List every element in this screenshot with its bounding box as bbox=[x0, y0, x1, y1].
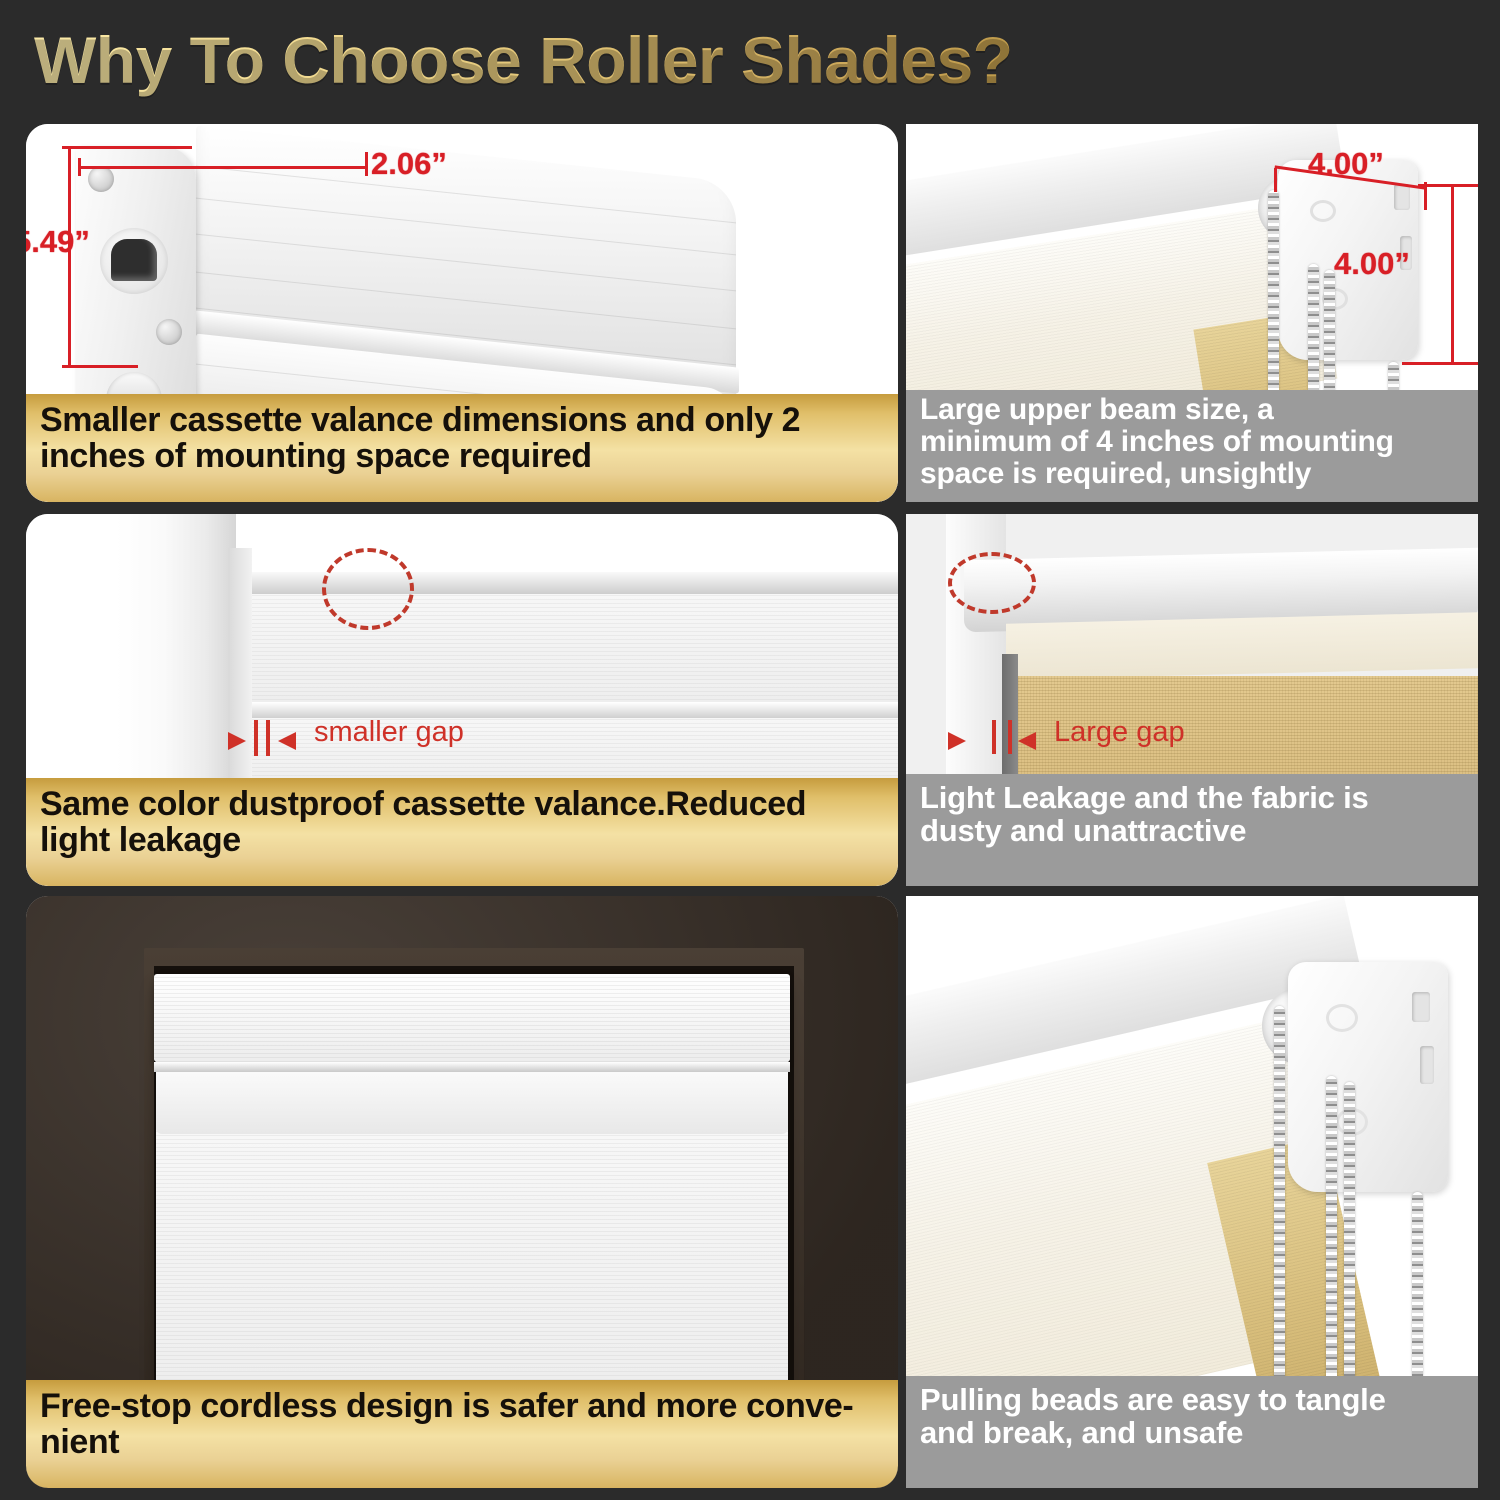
gap-arrow-left bbox=[228, 732, 246, 750]
panel-cordless-design: Free-stop cordless design is safer and m… bbox=[26, 896, 898, 1488]
height-dimension-line bbox=[1451, 184, 1454, 364]
width-dimension-line bbox=[78, 166, 368, 169]
gap-arrow-left bbox=[948, 732, 966, 750]
panel-upper-beam: 4.00” 4.00” Large upper beam size, a min… bbox=[906, 124, 1478, 502]
height-dimension-tick-bottom bbox=[1402, 362, 1478, 365]
comparison-grid: 5.49” 2.06” Smaller cassette valance dim… bbox=[0, 110, 1500, 1500]
gap-arrow-right bbox=[1018, 732, 1036, 750]
bead-chain bbox=[1412, 1192, 1423, 1406]
panel-caption: Free-stop cordless design is safer and m… bbox=[26, 1380, 898, 1488]
width-dimension-label: 2.06” bbox=[371, 146, 447, 182]
gap-tick-b bbox=[266, 720, 270, 756]
gap-tick-a bbox=[254, 720, 258, 756]
width-dimension-label: 4.00” bbox=[1308, 146, 1384, 182]
height-dimension-tick-bottom bbox=[62, 365, 138, 368]
detail-highlight-circle bbox=[322, 548, 414, 630]
height-dimension-tick-top bbox=[62, 146, 192, 149]
gap-tick-a bbox=[992, 720, 996, 754]
panel-pulling-beads: Pulling beads are easy to tangle and bre… bbox=[906, 896, 1478, 1488]
bead-chain bbox=[1274, 1006, 1285, 1406]
panel-cassette-valance: 5.49” 2.06” Smaller cassette valance dim… bbox=[26, 124, 898, 502]
panel-light-leakage: Large gap Light Leakage and the fabric i… bbox=[906, 514, 1478, 886]
gap-callout-label: smaller gap bbox=[314, 716, 464, 749]
panel-caption: Same color dustproof cassette valance.Re… bbox=[26, 778, 898, 886]
panel-caption: Pulling beads are easy to tangle and bre… bbox=[906, 1376, 1478, 1488]
width-dimension-tick-left bbox=[78, 158, 81, 176]
gap-arrow-right bbox=[278, 732, 296, 750]
height-dimension-label: 4.00” bbox=[1334, 246, 1410, 282]
panel-caption: Large upper beam size, a minimum of 4 in… bbox=[906, 390, 1478, 502]
panel-dustproof-valance: smaller gap Same color dustproof cassett… bbox=[26, 514, 898, 886]
gap-tick-b bbox=[1008, 720, 1012, 754]
height-dimension-label: 5.49” bbox=[26, 224, 90, 260]
detail-highlight-circle bbox=[948, 552, 1036, 614]
width-dimension-tick-right bbox=[365, 152, 368, 176]
gap-callout-label: Large gap bbox=[1054, 716, 1185, 749]
panel-caption: Light Leakage and the fabric is dusty an… bbox=[906, 774, 1478, 886]
height-dimension-tick-top bbox=[1418, 184, 1478, 187]
page-title: Why To Choose Roller Shades? bbox=[34, 20, 1034, 100]
width-dimension-tick-left bbox=[1274, 168, 1277, 192]
bead-chain bbox=[1344, 1082, 1355, 1406]
panel-caption: Smaller cassette valance dimensions and … bbox=[26, 394, 898, 502]
bead-chain bbox=[1326, 1076, 1337, 1406]
bead-chain bbox=[1268, 190, 1279, 420]
